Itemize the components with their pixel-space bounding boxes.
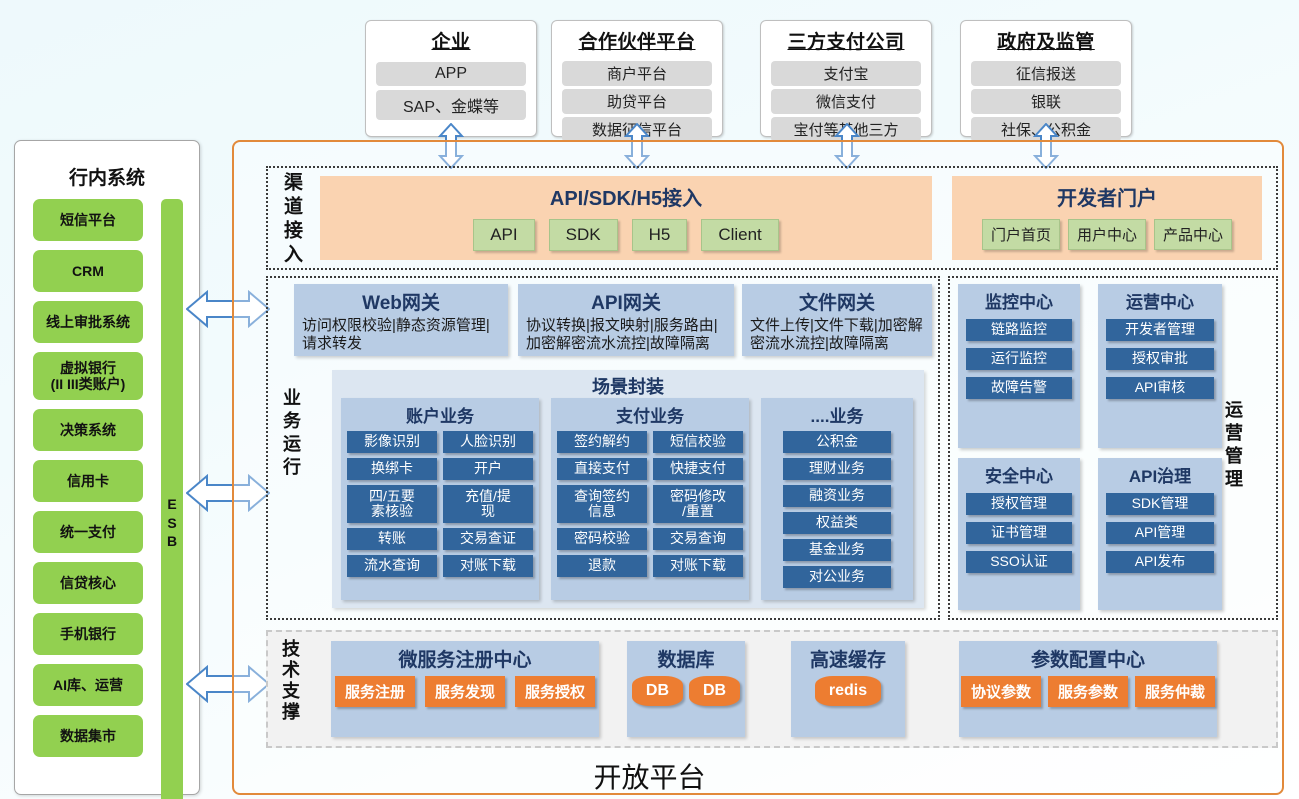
scene-chip[interactable]: 短信校验 <box>653 431 743 453</box>
scene-chip[interactable]: 退款 <box>557 555 647 577</box>
external-system-title: 政府及监管 <box>997 27 1095 54</box>
cache-title: 高速缓存 <box>810 645 886 672</box>
scene-chip[interactable]: 对公业务 <box>783 566 891 588</box>
platform-footer-title: 开放平台 <box>0 756 1299 796</box>
external-system-card-government-regulator[interactable]: 政府及监管 征信报送 银联 社保、公积金 <box>960 20 1132 137</box>
web-gateway-desc: 访问权限校验|静态资源管理|请求转发 <box>302 317 500 353</box>
portal-chip-user-center[interactable]: 用户中心 <box>1068 219 1146 250</box>
external-system-title: 三方支付公司 <box>787 27 904 54</box>
external-system-item[interactable]: 银联 <box>971 89 1121 114</box>
esb-label-s: S <box>167 514 176 533</box>
ops-chip[interactable]: 开发者管理 <box>1106 319 1214 341</box>
sidebar-title: 行内系统 <box>15 163 199 190</box>
web-gateway-card[interactable]: Web网关 访问权限校验|静态资源管理|请求转发 <box>294 284 508 356</box>
external-system-item[interactable]: APP <box>376 62 526 86</box>
ops-chip[interactable]: 运行监控 <box>966 348 1072 370</box>
security-center-card: 安全中心 授权管理 证书管理 SSO认证 <box>958 458 1080 610</box>
scene-chip[interactable]: 直接支付 <box>557 458 647 480</box>
sidebar-item-ai-ops[interactable]: AI库、运营 <box>33 664 143 706</box>
esb-label-b: B <box>167 532 177 551</box>
sidebar-item-crm[interactable]: CRM <box>33 250 143 292</box>
ops-chip[interactable]: 授权审批 <box>1106 348 1214 370</box>
scene-chip[interactable]: 签约解约 <box>557 431 647 453</box>
account-business-title: 账户业务 <box>347 400 533 431</box>
external-system-item[interactable]: SAP、金蝶等 <box>376 90 526 120</box>
ops-chip[interactable]: API管理 <box>1106 522 1214 544</box>
scene-chip[interactable]: 密码校验 <box>557 528 647 550</box>
scene-chip[interactable]: 流水查询 <box>347 555 437 577</box>
external-system-card-third-party-payment[interactable]: 三方支付公司 支付宝 微信支付 宝付等其他三方 <box>760 20 932 137</box>
scene-chip[interactable]: 密码修改 /重置 <box>653 485 743 523</box>
database-title: 数据库 <box>657 645 714 672</box>
external-system-item[interactable]: 支付宝 <box>771 61 921 86</box>
sidebar-item-mobile-bank[interactable]: 手机银行 <box>33 613 143 655</box>
cache-card: 高速缓存 redis <box>791 641 905 737</box>
ops-chip[interactable]: SDK管理 <box>1106 493 1214 515</box>
scene-chip[interactable]: 查询签约 信息 <box>557 485 647 523</box>
sidebar-item-credit-core[interactable]: 信贷核心 <box>33 562 143 604</box>
scene-chip[interactable]: 对账下载 <box>653 555 743 577</box>
ops-chip[interactable]: 链路监控 <box>966 319 1072 341</box>
api-gateway-title: API网关 <box>526 288 726 315</box>
sidebar-item-sms-platform[interactable]: 短信平台 <box>33 199 143 241</box>
payment-business-column: 支付业务 签约解约 直接支付 查询签约 信息 密码校验 退款 短信校验 快捷支付… <box>551 398 749 600</box>
file-gateway-card[interactable]: 文件网关 文件上传|文件下载|加密解密流水流控|故障隔离 <box>742 284 932 356</box>
database-cylinder-icon[interactable]: DB <box>689 676 740 706</box>
portal-chip-product-center[interactable]: 产品中心 <box>1154 219 1232 250</box>
channel-chip-h5[interactable]: H5 <box>632 219 688 251</box>
ops-chip[interactable]: 故障告警 <box>966 377 1072 399</box>
tech-chip-service-authorization[interactable]: 服务授权 <box>515 676 595 707</box>
other-business-column: ....业务 公积金 理财业务 融资业务 权益类 基金业务 对公业务 <box>761 398 913 600</box>
ops-chip[interactable]: 证书管理 <box>966 522 1072 544</box>
param-config-center-title: 参数配置中心 <box>1031 645 1145 672</box>
microservice-registry-title: 微服务注册中心 <box>398 645 531 672</box>
ops-chip[interactable]: 授权管理 <box>966 493 1072 515</box>
redis-cylinder-icon[interactable]: redis <box>815 676 881 706</box>
scene-chip[interactable]: 换绑卡 <box>347 458 437 480</box>
api-gateway-desc: 协议转换|报文映射|服务路由|加密解密流水流控|故障隔离 <box>526 317 726 353</box>
other-business-title: ....业务 <box>767 400 907 431</box>
sidebar-item-credit-card[interactable]: 信用卡 <box>33 460 143 502</box>
scene-chip[interactable]: 四/五要 素核验 <box>347 485 437 523</box>
ops-chip[interactable]: SSO认证 <box>966 551 1072 573</box>
api-access-title: API/SDK/H5接入 <box>550 182 702 211</box>
api-governance-title: API治理 <box>1129 462 1191 487</box>
external-system-title: 企业 <box>431 27 470 54</box>
operation-center-title: 运营中心 <box>1126 288 1194 313</box>
scene-chip[interactable]: 公积金 <box>783 431 891 453</box>
tech-chip-service-register[interactable]: 服务注册 <box>335 676 415 707</box>
external-system-item[interactable]: 助贷平台 <box>562 89 712 114</box>
sidebar-item-online-approval[interactable]: 线上审批系统 <box>33 301 143 343</box>
esb-label-e: E <box>167 495 176 514</box>
scene-chip[interactable]: 充值/提 现 <box>443 485 533 523</box>
ops-chip[interactable]: API审核 <box>1106 377 1214 399</box>
security-center-title: 安全中心 <box>985 462 1053 487</box>
tech-support-vertical-label: 技术支撑 <box>281 639 299 723</box>
monitor-center-title: 监控中心 <box>985 288 1053 313</box>
scene-chip[interactable]: 人脸识别 <box>443 431 533 453</box>
sidebar-item-unified-payment[interactable]: 统一支付 <box>33 511 143 553</box>
external-system-card-partner-platform[interactable]: 合作伙伴平台 商户平台 助贷平台 数据征信平台 <box>551 20 723 137</box>
monitor-center-card: 监控中心 链路监控 运行监控 故障告警 <box>958 284 1080 448</box>
api-governance-card: API治理 SDK管理 API管理 API发布 <box>1098 458 1222 610</box>
tech-chip-service-discovery[interactable]: 服务发现 <box>425 676 505 707</box>
external-system-item[interactable]: 征信报送 <box>971 61 1121 86</box>
payment-business-title: 支付业务 <box>557 400 743 431</box>
portal-chip-home[interactable]: 门户首页 <box>982 219 1060 250</box>
tech-chip-protocol-param[interactable]: 协议参数 <box>961 676 1041 707</box>
api-sdk-h5-access-card: API/SDK/H5接入 API SDK H5 Client <box>320 176 932 260</box>
channel-chip-client[interactable]: Client <box>701 219 778 251</box>
file-gateway-title: 文件网关 <box>750 288 924 315</box>
external-system-item[interactable]: 商户平台 <box>562 61 712 86</box>
external-system-item[interactable]: 微信支付 <box>771 89 921 114</box>
internal-systems-sidebar: 行内系统 短信平台 CRM 线上审批系统 虚拟银行 (II III类账户) 决策… <box>14 140 200 795</box>
database-cylinder-icon[interactable]: DB <box>632 676 683 706</box>
scene-chip[interactable]: 开户 <box>443 458 533 480</box>
scene-chip[interactable]: 影像识别 <box>347 431 437 453</box>
channel-chip-sdk[interactable]: SDK <box>549 219 618 251</box>
tech-chip-service-param[interactable]: 服务参数 <box>1048 676 1128 707</box>
scene-chip[interactable]: 理财业务 <box>783 458 891 480</box>
microservice-registry-card: 微服务注册中心 服务注册 服务发现 服务授权 <box>331 641 599 737</box>
scene-chip[interactable]: 交易查询 <box>653 528 743 550</box>
scene-encapsulation-title: 场景封装 <box>332 370 924 399</box>
database-card: 数据库 DB DB <box>627 641 745 737</box>
developer-portal-card: 开发者门户 门户首页 用户中心 产品中心 <box>952 176 1262 260</box>
sidebar-item-decision-system[interactable]: 决策系统 <box>33 409 143 451</box>
scene-chip[interactable]: 对账下载 <box>443 555 533 577</box>
api-gateway-card[interactable]: API网关 协议转换|报文映射|服务路由|加密解密流水流控|故障隔离 <box>518 284 734 356</box>
param-config-center-card: 参数配置中心 协议参数 服务参数 服务仲裁 <box>959 641 1217 737</box>
sidebar-item-virtual-bank[interactable]: 虚拟银行 (II III类账户) <box>33 352 143 400</box>
operation-center-card: 运营中心 开发者管理 授权审批 API审核 <box>1098 284 1222 448</box>
esb-bus: E S B <box>161 199 183 799</box>
web-gateway-title: Web网关 <box>302 288 500 315</box>
scene-chip[interactable]: 转账 <box>347 528 437 550</box>
sidebar-item-data-mart[interactable]: 数据集市 <box>33 715 143 757</box>
scene-chip[interactable]: 融资业务 <box>783 485 891 507</box>
developer-portal-chip-row: 门户首页 用户中心 产品中心 <box>982 219 1232 250</box>
operations-management-vertical-label: 运营管理 <box>1224 400 1242 492</box>
external-system-title: 合作伙伴平台 <box>578 27 695 54</box>
scene-chip[interactable]: 快捷支付 <box>653 458 743 480</box>
channel-access-vertical-label: 渠道接入 <box>282 172 301 268</box>
external-system-card-enterprise[interactable]: 企业 APP SAP、金蝶等 <box>365 20 537 137</box>
scene-chip[interactable]: 权益类 <box>783 512 891 534</box>
tech-chip-service-arbitration[interactable]: 服务仲裁 <box>1135 676 1215 707</box>
business-runtime-vertical-label: 业务运行 <box>282 388 300 480</box>
account-business-column: 账户业务 影像识别 换绑卡 四/五要 素核验 转账 流水查询 人脸识别 开户 充… <box>341 398 539 600</box>
channel-chip-api[interactable]: API <box>473 219 534 251</box>
ops-chip[interactable]: API发布 <box>1106 551 1214 573</box>
file-gateway-desc: 文件上传|文件下载|加密解密流水流控|故障隔离 <box>750 317 924 353</box>
sidebar-item-list: 短信平台 CRM 线上审批系统 虚拟银行 (II III类账户) 决策系统 信用… <box>33 199 143 766</box>
developer-portal-title: 开发者门户 <box>1057 182 1157 211</box>
scene-chip[interactable]: 基金业务 <box>783 539 891 561</box>
scene-chip[interactable]: 交易查证 <box>443 528 533 550</box>
api-access-chip-row: API SDK H5 Client <box>473 219 779 251</box>
